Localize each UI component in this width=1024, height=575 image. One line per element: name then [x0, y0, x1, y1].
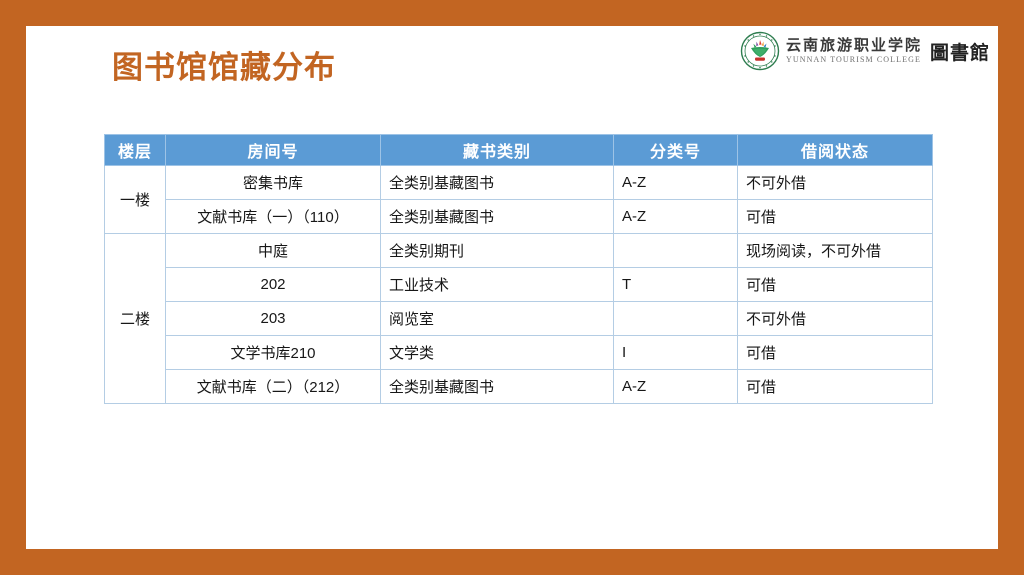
cell-status: 可借 [738, 200, 933, 234]
cell-code: A-Z [614, 166, 738, 200]
cell-status: 不可外借 [738, 166, 933, 200]
institution-logo: 云南旅游职业学院 YUNNAN TOURISM COLLEGE 圖書館 [740, 28, 990, 74]
cell-code [614, 302, 738, 336]
cell-status: 可借 [738, 268, 933, 302]
table-row: 202工业技术T可借 [105, 268, 933, 302]
college-name-cn: 云南旅游职业学院 [786, 38, 922, 53]
cell-room: 文学书库210 [166, 336, 381, 370]
collection-distribution-table: 楼层 房间号 藏书类别 分类号 借阅状态 一楼密集书库全类别基藏图书A-Z不可外… [104, 134, 933, 404]
cell-status: 可借 [738, 370, 933, 404]
slide-frame: 图书馆馆藏分布 [0, 0, 1024, 575]
column-header-status: 借阅状态 [738, 135, 933, 166]
table-row: 文献书库（一）（110）全类别基藏图书A-Z可借 [105, 200, 933, 234]
table-body: 一楼密集书库全类别基藏图书A-Z不可外借文献书库（一）（110）全类别基藏图书A… [105, 166, 933, 404]
cell-room: 文献书库（一）（110） [166, 200, 381, 234]
cell-category: 全类别基藏图书 [381, 166, 614, 200]
cell-code: A-Z [614, 200, 738, 234]
table-row: 203阅览室不可外借 [105, 302, 933, 336]
cell-code [614, 234, 738, 268]
cell-category: 全类别基藏图书 [381, 200, 614, 234]
cell-category: 阅览室 [381, 302, 614, 336]
college-name-en: YUNNAN TOURISM COLLEGE [786, 56, 922, 64]
library-label: 圖書館 [930, 38, 990, 65]
college-seal-icon [740, 31, 780, 71]
page-title: 图书馆馆藏分布 [112, 42, 336, 87]
cell-code: T [614, 268, 738, 302]
cell-code: A-Z [614, 370, 738, 404]
slide-canvas: 图书馆馆藏分布 [26, 26, 998, 549]
table-row: 一楼密集书库全类别基藏图书A-Z不可外借 [105, 166, 933, 200]
cell-room: 203 [166, 302, 381, 336]
column-header-category: 藏书类别 [381, 135, 614, 166]
table-row: 二楼中庭全类别期刊现场阅读，不可外借 [105, 234, 933, 268]
cell-code: I [614, 336, 738, 370]
column-header-code: 分类号 [614, 135, 738, 166]
cell-status: 不可外借 [738, 302, 933, 336]
cell-category: 全类别基藏图书 [381, 370, 614, 404]
cell-floor: 一楼 [105, 166, 166, 234]
table-row: 文学书库210文学类I可借 [105, 336, 933, 370]
collection-table-container: 楼层 房间号 藏书类别 分类号 借阅状态 一楼密集书库全类别基藏图书A-Z不可外… [104, 134, 932, 404]
table-header-row: 楼层 房间号 藏书类别 分类号 借阅状态 [105, 135, 933, 166]
column-header-room: 房间号 [166, 135, 381, 166]
cell-room: 文献书库（二）（212） [166, 370, 381, 404]
column-header-floor: 楼层 [105, 135, 166, 166]
cell-category: 全类别期刊 [381, 234, 614, 268]
cell-status: 可借 [738, 336, 933, 370]
cell-room: 中庭 [166, 234, 381, 268]
logo-text-block: 云南旅游职业学院 YUNNAN TOURISM COLLEGE [786, 38, 922, 64]
cell-status: 现场阅读，不可外借 [738, 234, 933, 268]
cell-room: 密集书库 [166, 166, 381, 200]
table-row: 文献书库（二）（212）全类别基藏图书A-Z可借 [105, 370, 933, 404]
cell-floor: 二楼 [105, 234, 166, 404]
cell-category: 文学类 [381, 336, 614, 370]
cell-category: 工业技术 [381, 268, 614, 302]
cell-room: 202 [166, 268, 381, 302]
